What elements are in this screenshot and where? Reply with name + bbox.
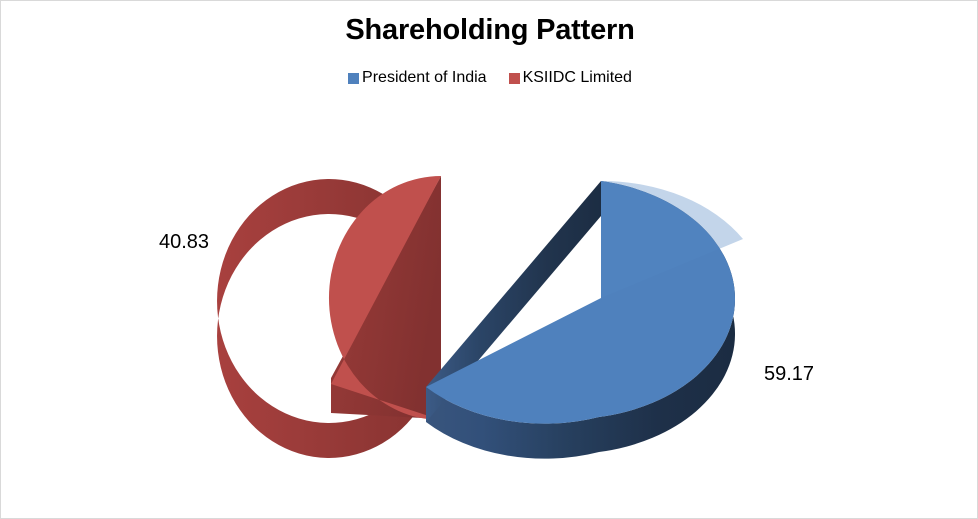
pie-chart-plot xyxy=(1,1,978,519)
chart-frame: Shareholding Pattern President of India … xyxy=(0,0,978,519)
data-label-president-of-india: 59.17 xyxy=(764,363,814,386)
pie-slice-president-of-india[interactable] xyxy=(426,181,743,459)
data-label-ksiidc-limited: 40.83 xyxy=(159,231,209,254)
pie-slice-ksiidc-limited[interactable] xyxy=(217,176,441,458)
